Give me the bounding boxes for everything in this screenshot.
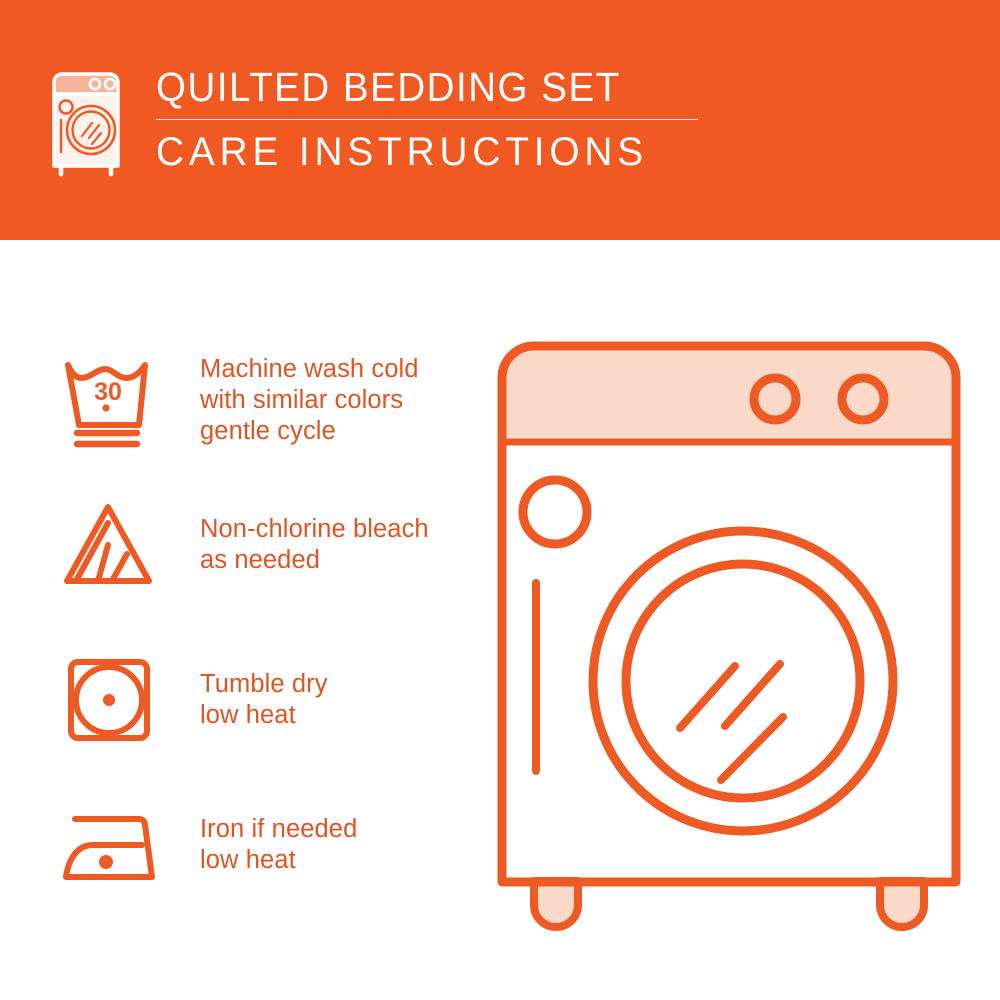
small-dial [523, 480, 587, 544]
door-shine-lines [680, 664, 783, 780]
washing-machine-illustration [492, 336, 962, 936]
care-row: 30 Machine wash cold with similar colors… [48, 345, 468, 455]
page-title: QUILTED BEDDING SET [156, 64, 665, 110]
header-title-group: QUILTED BEDDING SET CARE INSTRUCTIONS [156, 62, 698, 174]
wash-tub-30-gentle-icon: 30 [48, 345, 168, 455]
non-chlorine-bleach-triangle-icon [48, 490, 168, 600]
header-band: QUILTED BEDDING SET CARE INSTRUCTIONS [0, 0, 1000, 240]
foot-left [534, 881, 578, 927]
care-row: Non-chlorine bleach as needed [48, 490, 468, 600]
wash-temperature-value: 30 [94, 378, 122, 406]
iron-low-heat-icon [48, 790, 168, 900]
care-row: Iron if needed low heat [48, 790, 468, 900]
care-label: Non-chlorine bleach as needed [200, 514, 429, 576]
tumble-dry-low-heat-icon [48, 645, 168, 755]
page-subtitle: CARE INSTRUCTIONS [156, 130, 682, 174]
title-divider [156, 119, 698, 120]
washing-machine-icon [44, 68, 128, 180]
foot-right [880, 881, 924, 927]
care-row: Tumble dry low heat [48, 645, 468, 755]
care-label: Iron if needed low heat [200, 814, 357, 876]
door-outer-ring [593, 531, 893, 831]
header-content: QUILTED BEDDING SET CARE INSTRUCTIONS [44, 62, 698, 180]
care-label: Machine wash cold with similar colors ge… [200, 354, 419, 447]
care-label: Tumble dry low heat [200, 669, 328, 731]
